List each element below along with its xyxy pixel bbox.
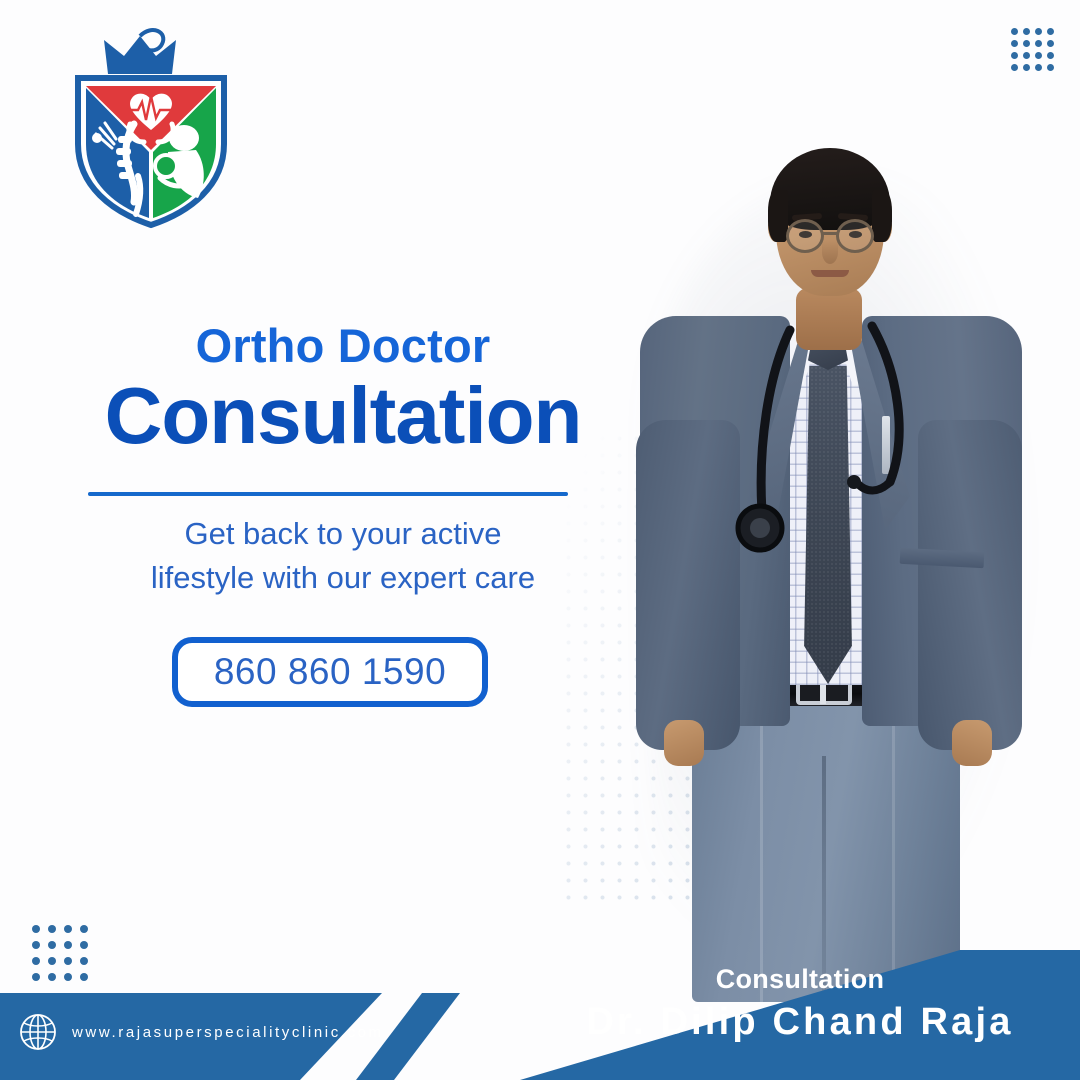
banner-subtitle: Consultation	[520, 964, 1080, 995]
trouser-crease-left	[760, 720, 763, 1002]
mouth	[811, 270, 849, 277]
nose	[822, 240, 838, 264]
clinic-logo	[56, 26, 246, 231]
eyeglass-bridge	[823, 232, 837, 235]
banner-doctor-name: Dr. Dilip Chand Raja	[520, 1001, 1080, 1044]
phone-number-pill[interactable]: 860 860 1590	[172, 637, 488, 707]
headline-block: Ortho Doctor Consultation	[88, 322, 598, 458]
dot-grid-top-right	[1011, 28, 1059, 76]
eyeglass-lens-left	[786, 219, 824, 253]
dot-grid-bottom-left	[32, 925, 96, 989]
website-bar-content[interactable]: www.rajasuperspecialityclinic.com	[18, 1004, 384, 1060]
crown-icon	[104, 30, 176, 74]
phone-number-text: 860 860 1590	[214, 651, 446, 693]
tagline-block: Get back to your active lifestyle with o…	[70, 512, 616, 600]
hand-right	[952, 720, 992, 766]
tagline-line-1: Get back to your active	[70, 512, 616, 556]
hand-left	[664, 720, 704, 766]
hair-side-right	[872, 190, 892, 242]
trouser-crease-right	[892, 720, 895, 1002]
website-url-text: www.rajasuperspecialityclinic.com	[72, 1024, 384, 1041]
doctor-photo	[600, 120, 1080, 1000]
doctor-name-banner-text: Consultation Dr. Dilip Chand Raja	[520, 964, 1080, 1074]
eyeglass-lens-right	[836, 219, 874, 253]
headline-main: Consultation	[88, 374, 598, 458]
tagline-line-2: lifestyle with our expert care	[70, 556, 616, 600]
poster-canvas: Ortho Doctor Consultation Get back to yo…	[0, 0, 1080, 1080]
headline-divider	[88, 492, 568, 496]
hair-side-left	[768, 190, 788, 242]
globe-icon	[18, 1012, 58, 1052]
stethoscope-icon	[640, 316, 1022, 676]
headline-kicker: Ortho Doctor	[88, 322, 598, 370]
